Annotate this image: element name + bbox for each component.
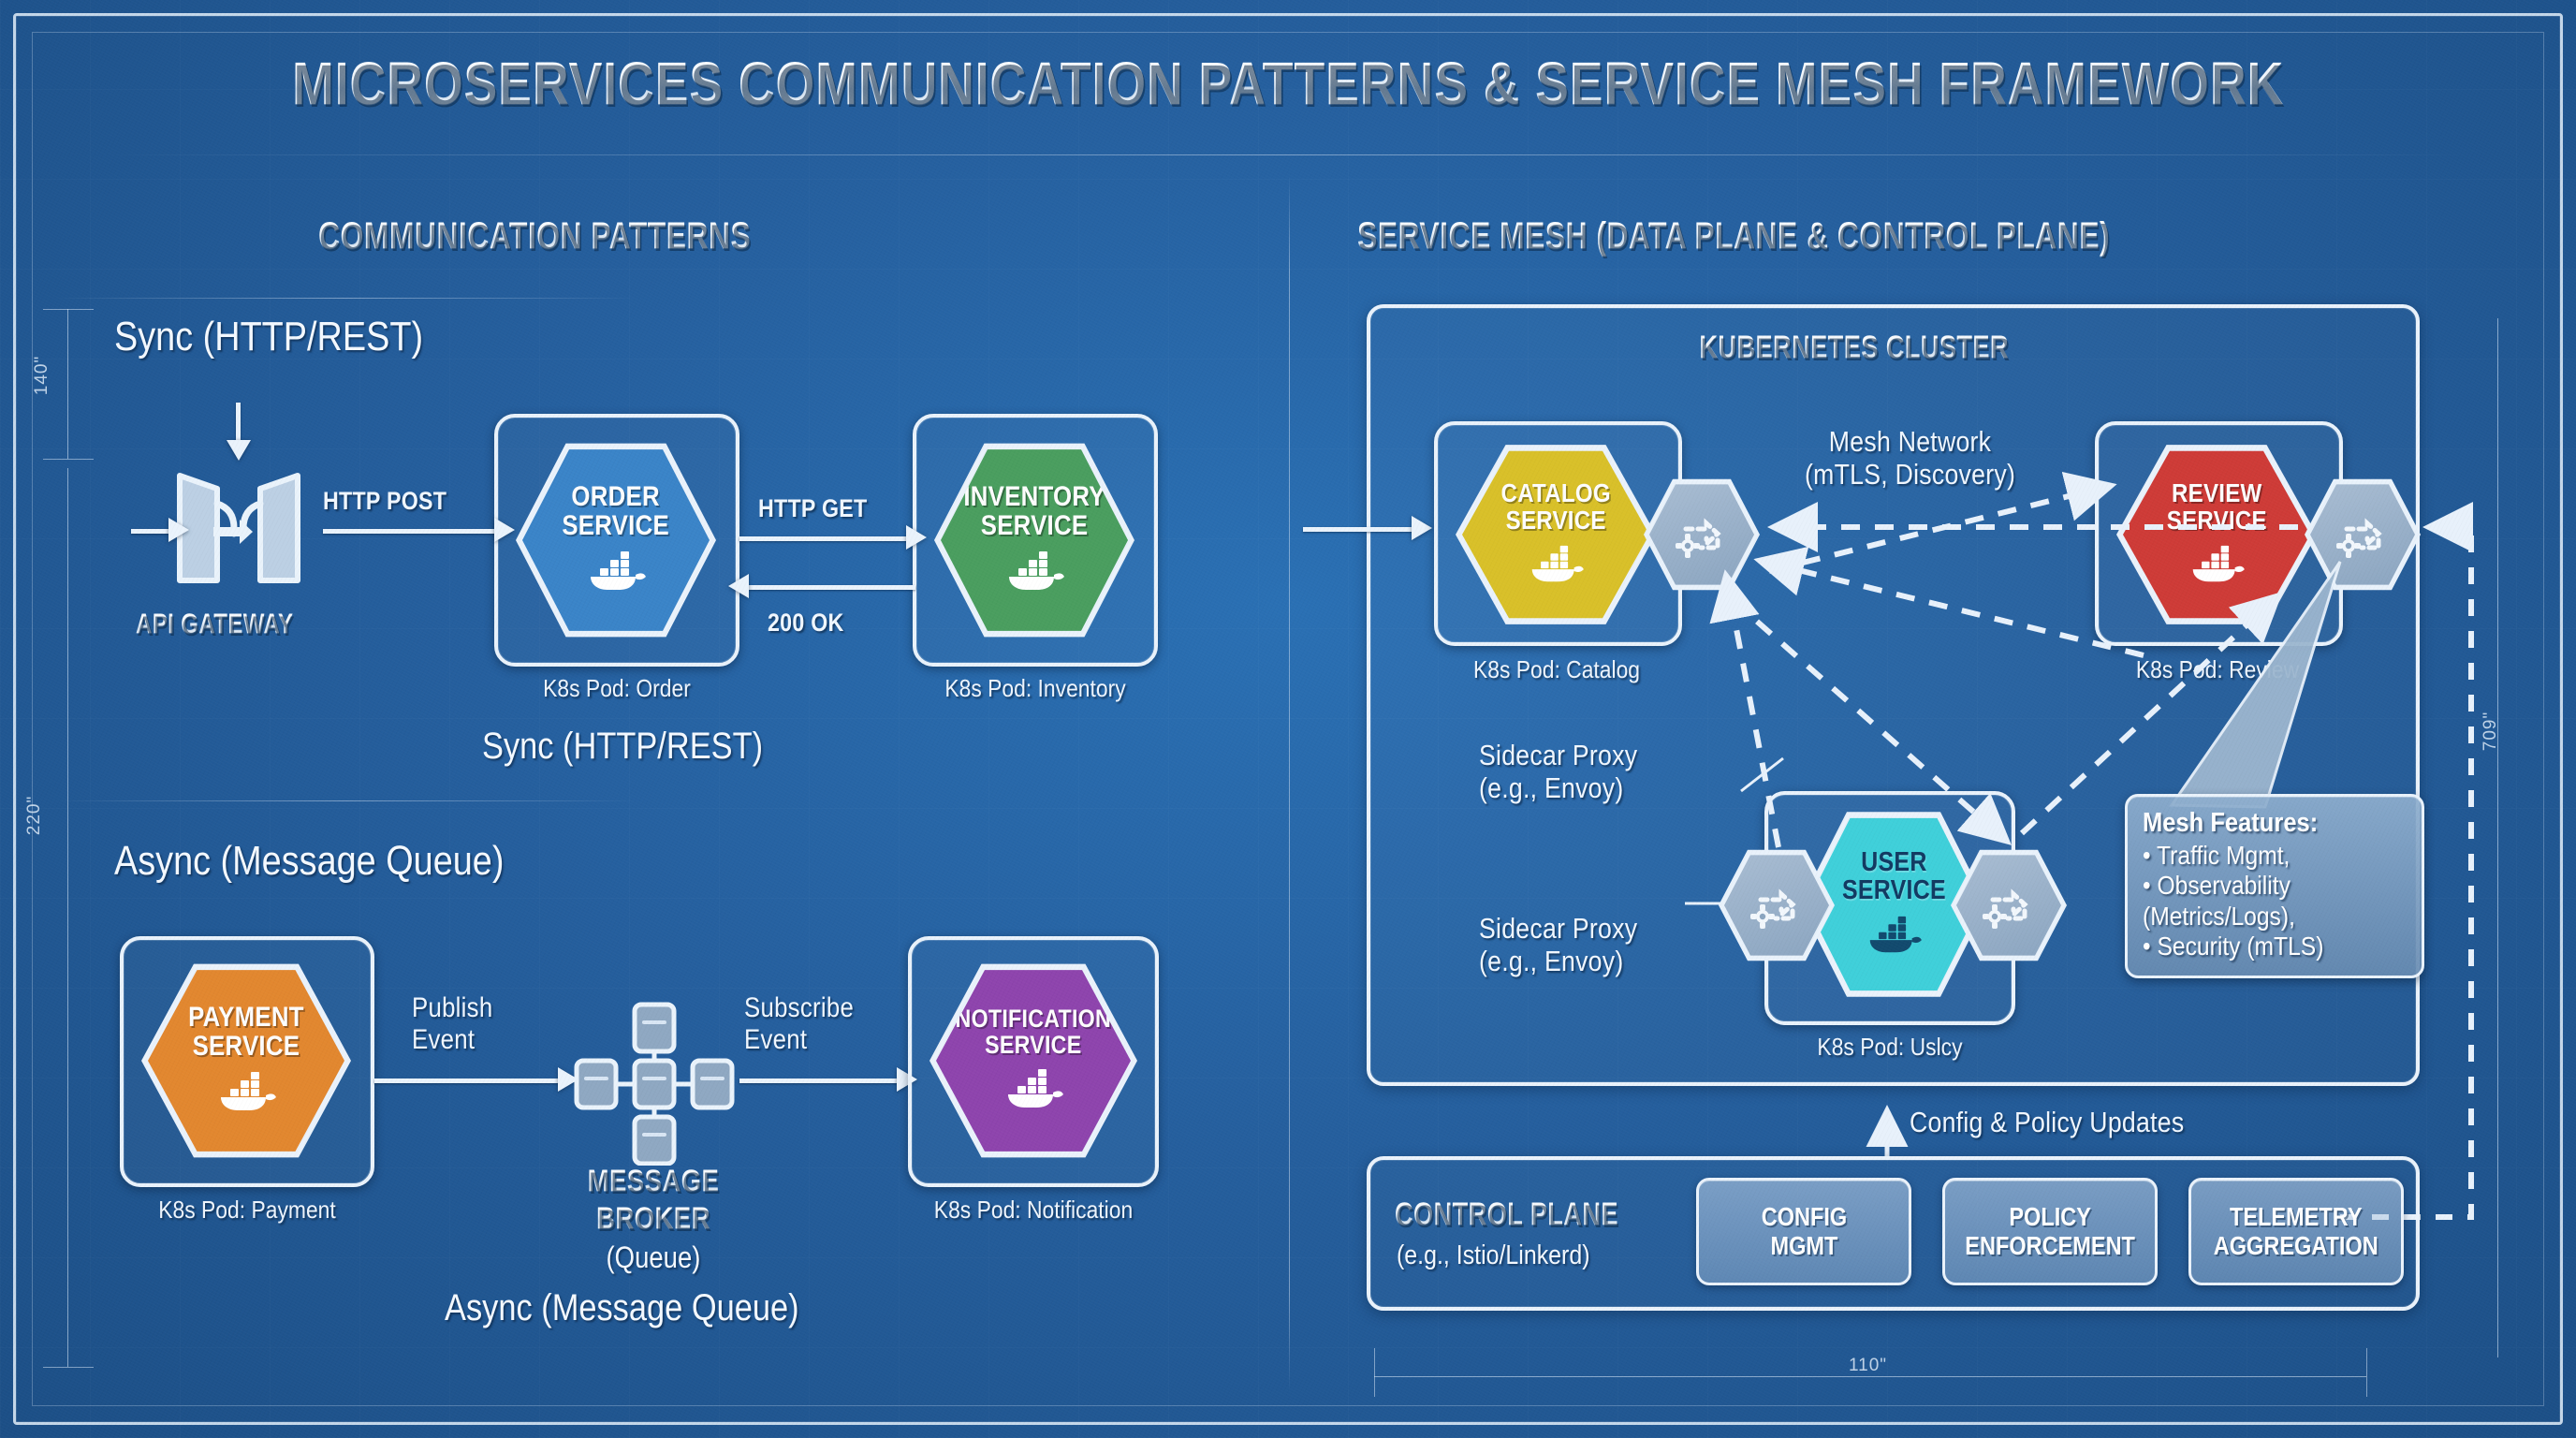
dim-right-line bbox=[2497, 318, 2498, 1357]
gateway-in-arrow-top bbox=[227, 440, 251, 461]
dim-tick bbox=[2366, 1348, 2367, 1397]
pod-payment-label: K8s Pod: Payment bbox=[158, 1196, 336, 1225]
control-plane-chip-config-label: CONFIG MGMT bbox=[1761, 1203, 1846, 1259]
cluster-ingress-arrow bbox=[1412, 516, 1432, 540]
edge-http-get-label: HTTP GET bbox=[758, 494, 867, 523]
message-broker-icon bbox=[569, 997, 738, 1166]
dim-tick bbox=[43, 309, 94, 310]
sidecar-proxy-label-bottom: Sidecar Proxy (e.g., Envoy) bbox=[1479, 913, 1637, 977]
proxy-gear-arrow-icon bbox=[2332, 508, 2393, 561]
pod-user-label: K8s Pod: Uslcy bbox=[1817, 1033, 1962, 1062]
dim-left-lower-label: 220" bbox=[24, 796, 45, 835]
edge-http-post-label: HTTP POST bbox=[323, 487, 446, 516]
sidecar-proxy-catalog bbox=[1649, 481, 1754, 588]
control-plane-chip-config[interactable]: CONFIG MGMT bbox=[1696, 1178, 1911, 1285]
edge-http-get-arrow bbox=[906, 525, 927, 550]
dim-left-upper-line bbox=[67, 309, 68, 459]
edge-publish-line bbox=[374, 1078, 562, 1083]
service-catalog: CATALOG SERVICE bbox=[1462, 446, 1649, 624]
control-plane-title: CONTROL PLANE bbox=[1395, 1196, 1618, 1233]
title-underline bbox=[103, 154, 2471, 155]
pod-review-label: K8s Pod: Review bbox=[2136, 655, 2299, 684]
control-plane-chip-policy-label: POLICY ENFORCEMENT bbox=[1965, 1203, 2135, 1259]
service-order-name: ORDER SERVICE bbox=[563, 483, 670, 540]
docker-whale-icon bbox=[215, 1070, 277, 1118]
control-plane-chip-telemetry-label: TELEMETRY AGGREGATION bbox=[2214, 1203, 2378, 1259]
service-inventory: INVENTORY SERVICE bbox=[941, 444, 1128, 637]
proxy-gear-arrow-icon bbox=[1671, 508, 1733, 561]
gateway-in-line-left bbox=[131, 529, 170, 534]
sidecar-proxy-user-left bbox=[1724, 852, 1829, 959]
pod-order-label: K8s Pod: Order bbox=[543, 674, 691, 703]
dim-tick bbox=[43, 459, 94, 460]
service-notification-name: NOTIFICATION SERVICE bbox=[956, 1006, 1111, 1058]
service-inventory-name: INVENTORY SERVICE bbox=[963, 483, 1105, 540]
edge-200ok-arrow bbox=[728, 574, 749, 598]
edge-200ok-label: 200 OK bbox=[768, 609, 844, 638]
service-notification: NOTIFICATION SERVICE bbox=[936, 964, 1131, 1157]
service-payment: PAYMENT SERVICE bbox=[148, 964, 344, 1157]
service-order: ORDER SERVICE bbox=[522, 444, 710, 637]
broker-label-line3: (Queue) bbox=[578, 1240, 728, 1275]
async-caption: Async (Message Queue) bbox=[445, 1287, 799, 1329]
proxy-gear-arrow-icon bbox=[1978, 879, 2040, 932]
sidecar-proxy-review bbox=[2310, 481, 2415, 588]
cluster-title: KUBERNETES CLUSTER bbox=[1699, 330, 2009, 366]
pod-inventory-label: K8s Pod: Inventory bbox=[944, 674, 1125, 703]
broker-label-line2: BROKER bbox=[578, 1201, 728, 1236]
sync-caption: Sync (HTTP/REST) bbox=[482, 726, 763, 768]
sidecar-proxy-user-right bbox=[1956, 852, 2061, 959]
service-review: REVIEW SERVICE bbox=[2123, 446, 2310, 624]
dim-bottom-label: 110" bbox=[1849, 1356, 1887, 1376]
pod-notification-label: K8s Pod: Notification bbox=[934, 1196, 1133, 1225]
pod-catalog-label: K8s Pod: Catalog bbox=[1473, 655, 1640, 684]
docker-whale-icon bbox=[585, 550, 647, 597]
dim-left-lower-line bbox=[67, 468, 68, 1367]
control-plane-subtitle: (e.g., Istio/Linkerd) bbox=[1397, 1240, 1590, 1271]
control-plane-chip-policy[interactable]: POLICY ENFORCEMENT bbox=[1942, 1178, 2158, 1285]
proxy-gear-arrow-icon bbox=[1746, 879, 1808, 932]
docker-whale-icon bbox=[2188, 544, 2246, 589]
mesh-features-items: • Traffic Mgmt, • Observability (Metrics… bbox=[2143, 841, 2375, 962]
service-user-name: USER SERVICE bbox=[1842, 849, 1946, 904]
sidecar-proxy-label-top: Sidecar Proxy (e.g., Envoy) bbox=[1479, 740, 1637, 804]
mesh-features-callout: Mesh Features: • Traffic Mgmt, • Observa… bbox=[2125, 794, 2424, 978]
dim-bottom-line bbox=[1374, 1376, 2366, 1377]
async-heading: Async (Message Queue) bbox=[114, 838, 504, 885]
docker-whale-icon bbox=[1003, 1067, 1064, 1115]
async-rule bbox=[56, 800, 637, 801]
control-plane-chip-telemetry[interactable]: TELEMETRY AGGREGATION bbox=[2188, 1178, 2404, 1285]
edge-subscribe-label: Subscribe Event bbox=[744, 992, 854, 1055]
edge-publish-label: Publish Event bbox=[412, 992, 492, 1055]
dim-left-upper-label: 140" bbox=[32, 356, 52, 395]
service-payment-name: PAYMENT SERVICE bbox=[188, 1004, 304, 1061]
broker-label-line1: MESSAGE bbox=[578, 1164, 728, 1198]
panel-divider bbox=[1289, 174, 1290, 1391]
mesh-features-heading: Mesh Features: bbox=[2143, 808, 2375, 839]
api-gateway-label: API GATEWAY bbox=[136, 609, 293, 640]
edge-http-post-line bbox=[323, 529, 501, 534]
cluster-ingress-line bbox=[1303, 527, 1415, 532]
dim-tick bbox=[1374, 1348, 1375, 1397]
gateway-in-arrow-left bbox=[168, 518, 189, 542]
edge-http-post-arrow bbox=[494, 518, 515, 542]
service-catalog-name: CATALOG SERVICE bbox=[1500, 480, 1610, 534]
dim-right-label: 709" bbox=[2481, 712, 2501, 751]
edge-subscribe-line bbox=[739, 1078, 903, 1083]
docker-whale-icon bbox=[1865, 915, 1923, 960]
sync-rule bbox=[56, 298, 637, 299]
blueprint-canvas: MICROSERVICES COMMUNICATION PATTERNS & S… bbox=[0, 0, 2576, 1438]
dim-tick bbox=[43, 1367, 94, 1368]
edge-200ok-line bbox=[749, 585, 915, 590]
config-policy-updates-label: Config & Policy Updates bbox=[1910, 1107, 2184, 1139]
service-review-name: REVIEW SERVICE bbox=[2166, 480, 2266, 534]
page-title: MICROSERVICES COMMUNICATION PATTERNS & S… bbox=[292, 49, 2284, 118]
mesh-network-label: Mesh Network (mTLS, Discovery) bbox=[1805, 426, 2015, 491]
edge-http-get-line bbox=[739, 536, 913, 541]
sync-heading: Sync (HTTP/REST) bbox=[114, 314, 423, 360]
right-panel-title: SERVICE MESH (DATA PLANE & CONTROL PLANE… bbox=[1357, 215, 2110, 257]
docker-whale-icon bbox=[1003, 550, 1065, 597]
left-panel-title: COMMUNICATION PATTERNS bbox=[318, 215, 751, 257]
docker-whale-icon bbox=[1527, 544, 1585, 589]
